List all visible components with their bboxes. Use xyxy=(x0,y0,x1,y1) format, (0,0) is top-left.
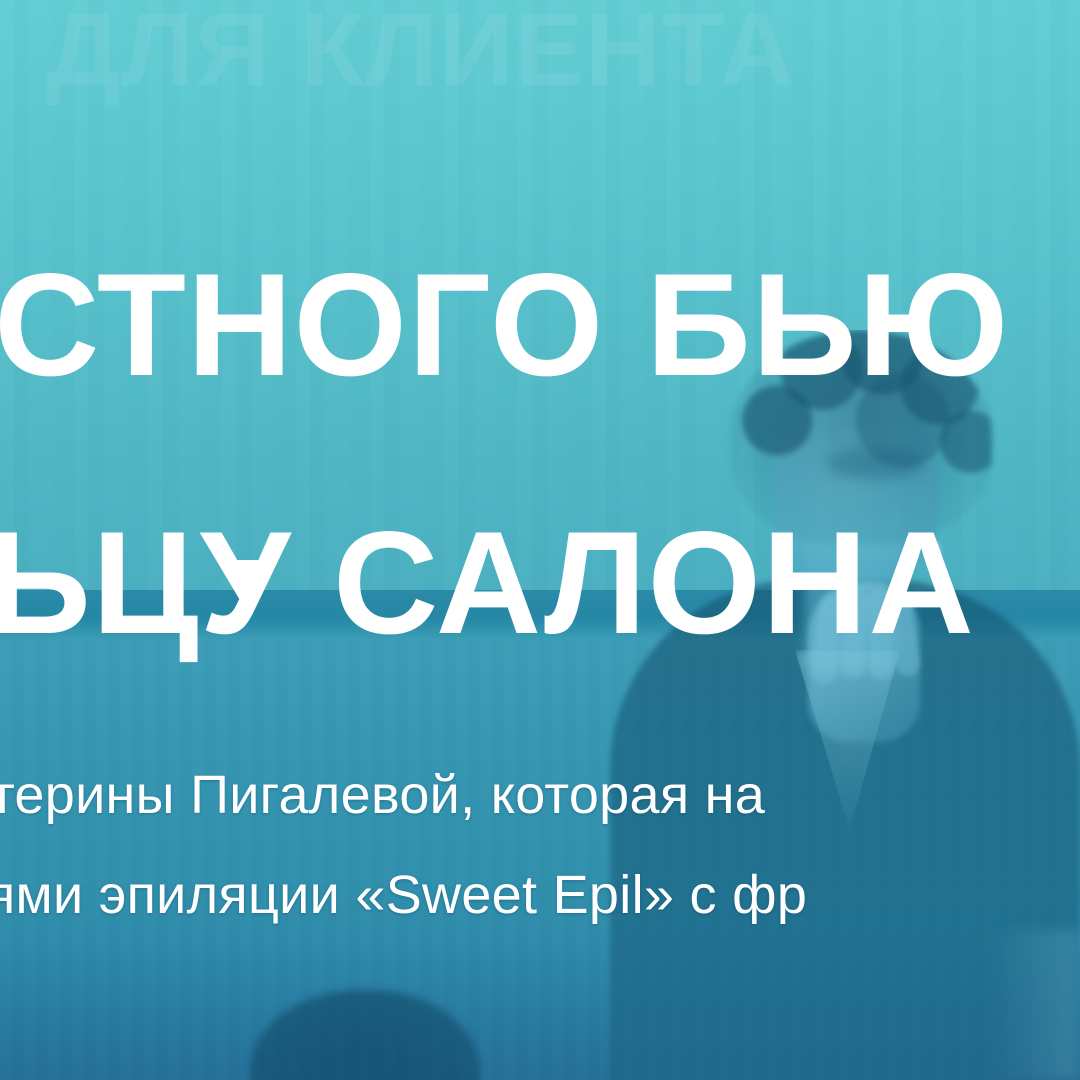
subtitle-block: терины Пигалевой, которая на ями эпиляци… xyxy=(0,745,1080,945)
page-title: СТНОГО БЬЮ ЬЦУ САЛОНА xyxy=(0,196,1080,712)
subtitle-line-1: терины Пигалевой, которая на xyxy=(0,745,1080,845)
foreground-right-highlight xyxy=(985,930,1080,1080)
banner-canvas: ДЛЯ КЛИЕНТА СТНОГО БЬЮ ЬЦУ САЛОНА терины… xyxy=(0,0,1080,1080)
kicker-text: ДЛЯ КЛИЕНТА xyxy=(46,0,1080,105)
subtitle-line-2: ями эпиляции «Sweet Epil» с фр xyxy=(0,845,1080,945)
headline-line-1: СТНОГО БЬЮ xyxy=(0,196,1080,454)
headline-line-2: ЬЦУ САЛОНА xyxy=(0,454,1080,712)
